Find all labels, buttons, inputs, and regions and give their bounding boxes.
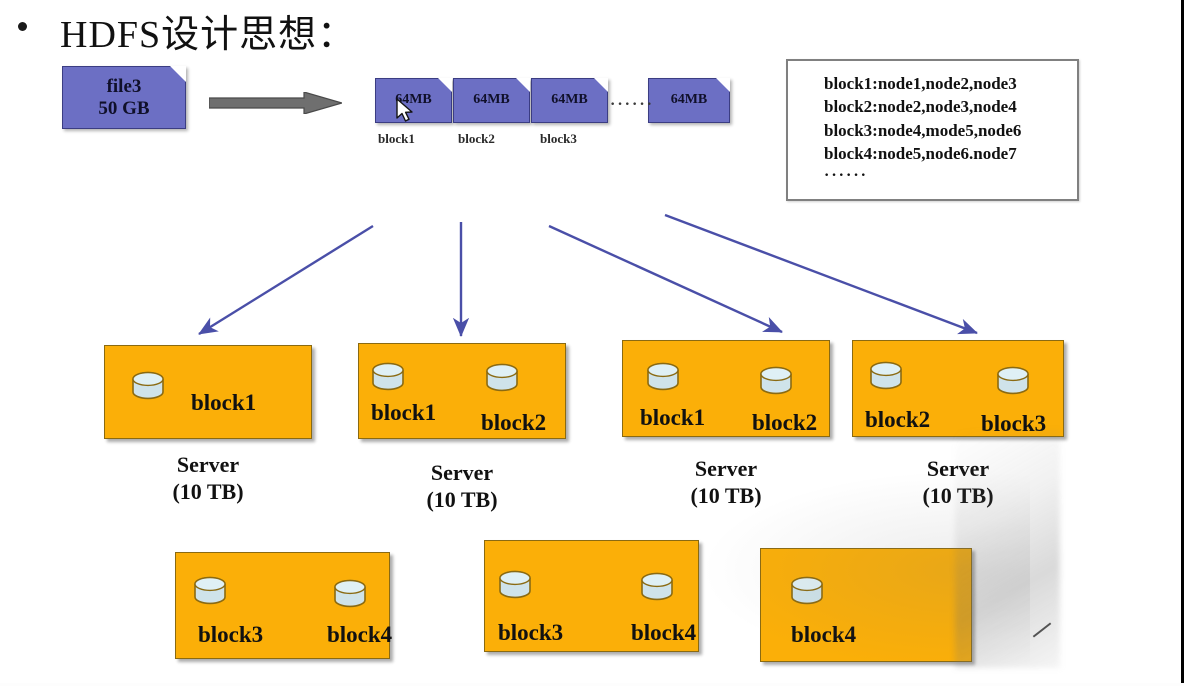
block-shape-2: 64MB (453, 78, 530, 123)
disk-cylinder-icon (370, 362, 406, 393)
server-caption-line2: (10 TB) (104, 479, 312, 506)
server-caption-line2: (10 TB) (358, 487, 566, 514)
block-caption-3: block3 (540, 131, 577, 147)
arrow-to-server-1 (199, 226, 373, 334)
disk-cylinder-icon (868, 361, 904, 392)
block-caption-1: block1 (378, 131, 415, 147)
disk-cylinder-icon (758, 366, 794, 397)
disk-label-block4: block4 (327, 622, 392, 648)
block-shape-4: 64MB (648, 78, 730, 123)
server-caption-line1: Server (358, 460, 566, 487)
disk-cylinder-icon (484, 363, 520, 394)
file-shape-file3: file3 50 GB (62, 66, 186, 129)
disk-cylinder-icon (639, 572, 675, 603)
server-caption-2: Server (10 TB) (358, 460, 566, 514)
disk-label-block2: block2 (865, 407, 930, 433)
disk-cylinder-icon (645, 362, 681, 393)
block-caption-2: block2 (458, 131, 495, 147)
disk-label-block3: block3 (198, 622, 263, 648)
arrow-to-server-4 (665, 215, 977, 333)
slide-canvas: HDFS设计思想： file3 50 GB 64MB 64MB 64MB 64M… (0, 0, 1184, 686)
server-caption-line1: Server (852, 456, 1064, 483)
server-caption-line1: Server (104, 452, 312, 479)
server-caption-4: Server (10 TB) (852, 456, 1064, 510)
disk-label-block4: block4 (631, 620, 696, 646)
block-size-label: 64MB (473, 92, 510, 108)
file-size-label: 50 GB (98, 98, 149, 120)
disk-label-block2: block2 (481, 410, 546, 436)
block-size-label: 64MB (551, 92, 588, 108)
page-fold-corner (516, 78, 530, 92)
disk-label-block2: block2 (752, 410, 817, 436)
bullet-point-marker (18, 22, 27, 31)
disk-cylinder-icon (192, 576, 228, 607)
note-line-1: block1:node1,node2,node3 (824, 72, 1021, 95)
thick-right-arrow-icon (209, 92, 342, 114)
note-line-3: block3:node4,mode5,node6 (824, 119, 1021, 142)
file-name-label: file3 (107, 76, 142, 98)
server-caption-line1: Server (622, 456, 830, 483)
disk-cylinder-icon (497, 570, 533, 601)
blocks-ellipsis: ······ (610, 96, 654, 114)
disk-cylinder-icon (130, 371, 166, 402)
disk-label-block1: block1 (191, 390, 256, 416)
server-caption-line2: (10 TB) (622, 483, 830, 510)
mouse-pointer-arrow-icon (396, 98, 416, 126)
arrow-to-server-3 (549, 226, 782, 332)
disk-label-block3: block3 (981, 411, 1046, 437)
note-line-ellipsis: ······ (824, 165, 1021, 187)
disk-cylinder-icon (789, 576, 825, 607)
page-fold-corner (594, 78, 608, 92)
disk-label-block4: block4 (791, 622, 856, 648)
page-fold-corner (438, 78, 452, 92)
block-size-label: 64MB (671, 92, 708, 108)
disk-label-block1: block1 (640, 405, 705, 431)
glare-streak (1033, 622, 1052, 637)
note-line-2: block2:node2,node3,node4 (824, 95, 1021, 118)
note-line-4: block4:node5,node6.node7 (824, 142, 1021, 165)
page-title: HDFS设计思想： (60, 3, 356, 58)
disk-cylinder-icon (995, 366, 1031, 397)
disk-label-block3: block3 (498, 620, 563, 646)
block-placement-note-box: block1:node1,node2,node3 block2:node2,no… (786, 59, 1079, 201)
page-fold-corner (716, 78, 730, 92)
page-fold-corner (170, 66, 186, 82)
server-caption-3: Server (10 TB) (622, 456, 830, 510)
disk-label-block1: block1 (371, 400, 436, 426)
server-caption-line2: (10 TB) (852, 483, 1064, 510)
server-caption-1: Server (10 TB) (104, 452, 312, 506)
disk-cylinder-icon (332, 579, 368, 610)
block-shape-3: 64MB (531, 78, 608, 123)
